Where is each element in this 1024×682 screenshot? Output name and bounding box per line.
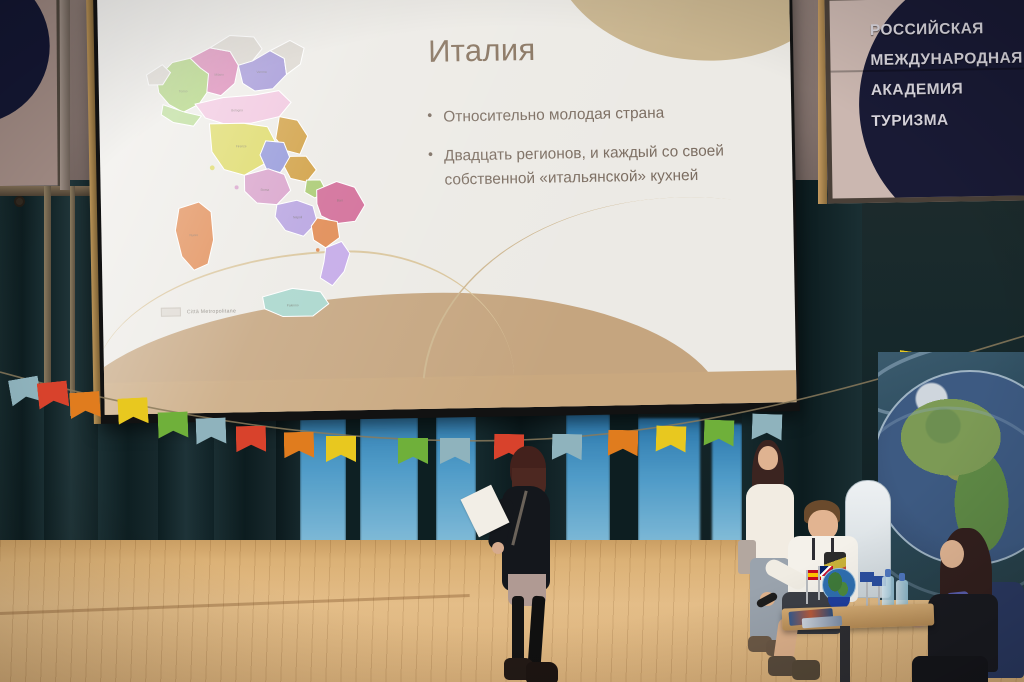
rmat-banner: РОССИЙСКАЯ МЕЖДУНАРОДНАЯ АКАДЕМИЯ ТУРИЗМ… xyxy=(824,0,1024,204)
banner-line-4: ТУРИЗМА xyxy=(871,103,1024,136)
slide-bullet-item: Относительно молодая страна xyxy=(427,100,757,129)
italy-provinces-map: Torino Milano Verona Bologna Firenze Rom… xyxy=(137,9,393,344)
banner-line-1: РОССИЙСКАЯ xyxy=(870,13,1024,46)
banner-line-2: МЕЖДУНАРОДНАЯ xyxy=(870,43,1024,76)
curtain-pole xyxy=(44,186,51,401)
lap xyxy=(912,656,988,682)
legend-swatch xyxy=(161,307,181,316)
table-leg xyxy=(840,626,850,682)
slide-title: Италия xyxy=(428,32,536,70)
conference-hall-photo: РОССИЙСКАЯ МЕЖДУНАРОДНАЯ АКАДЕМИЯ ТУРИЗМ… xyxy=(0,0,1024,682)
svg-text:Bari: Bari xyxy=(337,198,343,202)
banner-circle-logo xyxy=(0,0,50,125)
italy-map-svg: Torino Milano Verona Bologna Firenze Rom… xyxy=(137,9,393,344)
projection-screen: Torino Milano Verona Bologna Firenze Rom… xyxy=(92,0,800,424)
hand xyxy=(492,542,504,554)
slide-bullet-list: Относительно молодая страна Двадцать рег… xyxy=(427,100,759,208)
left-wall-banner xyxy=(0,0,61,186)
map-legend: Città Metropolitane xyxy=(161,306,236,316)
leg xyxy=(512,596,524,666)
rmat-banner-text: РОССИЙСКАЯ МЕЖДУНАРОДНАЯ АКАДЕМИЯ ТУРИЗМ… xyxy=(870,13,1024,137)
presentation-slide: Torino Milano Verona Bologna Firenze Rom… xyxy=(97,0,797,415)
slide-decor-top-shape xyxy=(546,0,796,64)
legend-label: Città Metropolitane xyxy=(187,308,236,315)
svg-text:Nuoro: Nuoro xyxy=(189,233,198,237)
face xyxy=(758,446,778,470)
boot xyxy=(792,660,820,680)
slide-bullet-item: Двадцать регионов, и каждый со своей соб… xyxy=(428,139,759,192)
woman-seated-dark-jacket xyxy=(924,528,1024,682)
svg-text:Torino: Torino xyxy=(179,89,188,93)
wall-pillar-edge xyxy=(60,0,70,190)
svg-text:Palermo: Palermo xyxy=(287,303,299,307)
svg-text:Verona: Verona xyxy=(256,70,266,74)
svg-text:Roma: Roma xyxy=(261,188,270,192)
curtain-pole xyxy=(70,186,75,416)
curtain-ring xyxy=(14,196,25,207)
leg xyxy=(528,596,546,669)
svg-text:Napoli: Napoli xyxy=(293,215,302,219)
svg-text:Bologna: Bologna xyxy=(231,108,243,112)
boot xyxy=(526,662,558,682)
face xyxy=(940,540,964,568)
banner-line-3: АКАДЕМИЯ xyxy=(871,73,1024,106)
svg-text:Firenze: Firenze xyxy=(236,144,247,148)
presenter-with-microphone xyxy=(486,446,556,666)
svg-text:Milano: Milano xyxy=(215,73,225,77)
